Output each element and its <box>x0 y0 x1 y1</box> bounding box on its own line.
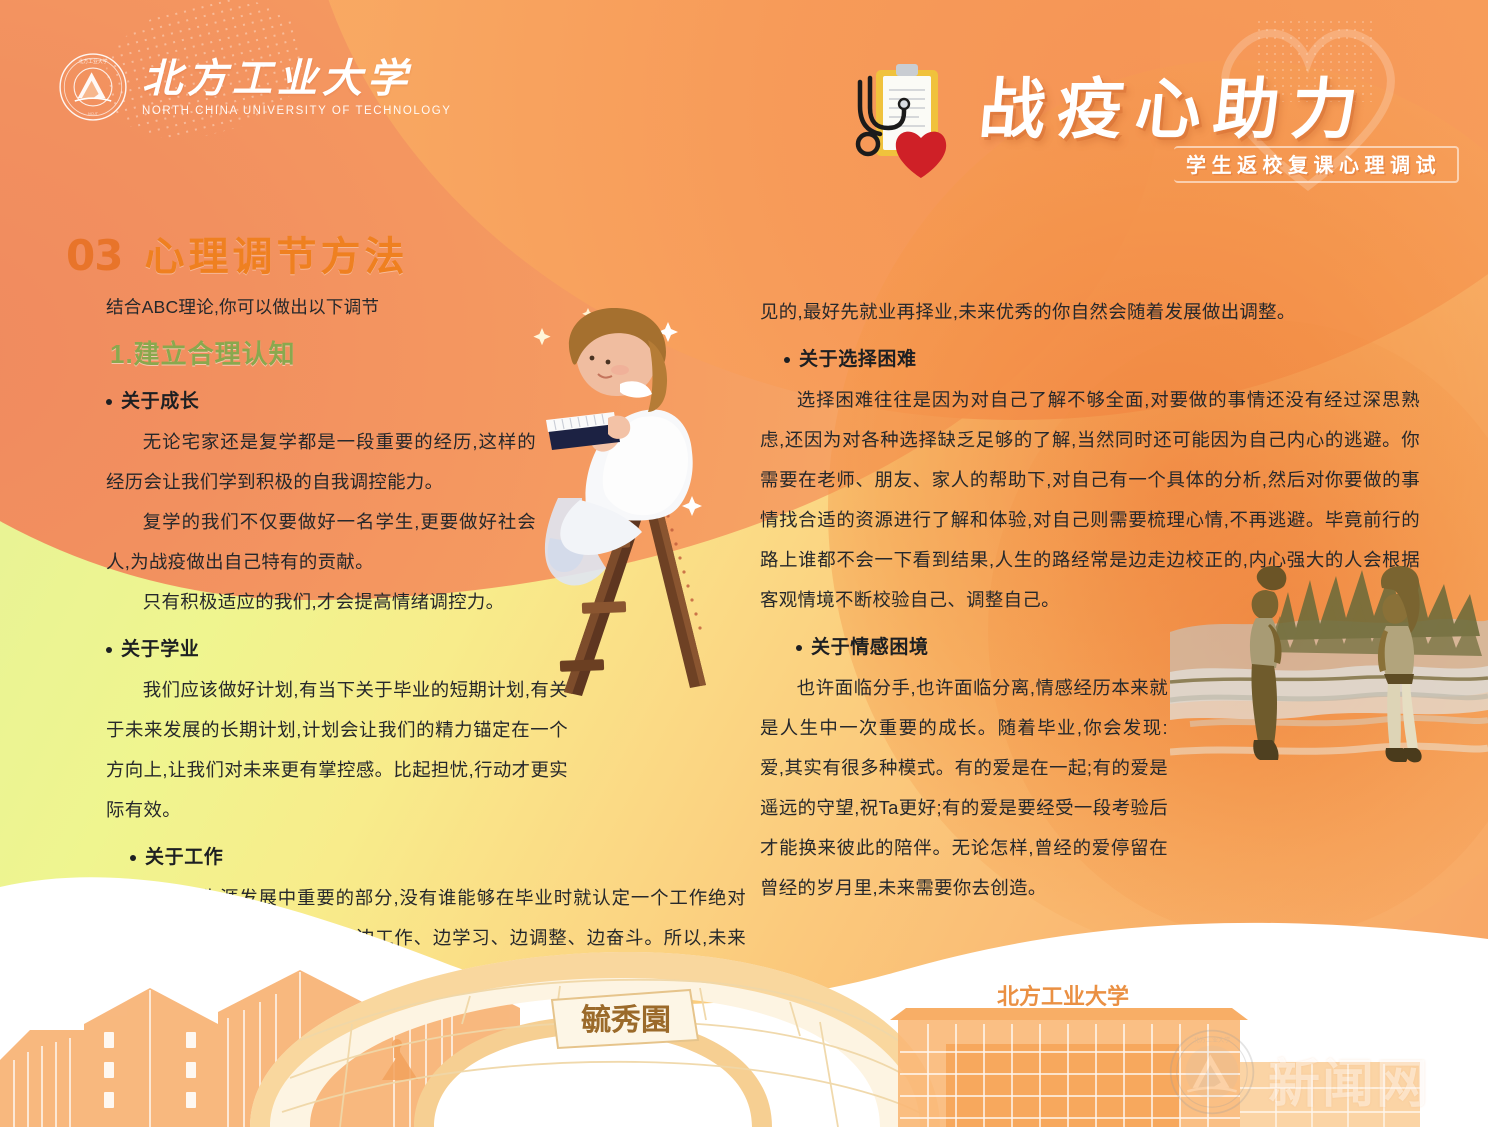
paragraph-growth-2: 复学的我们不仅要做好一名学生,更要做好社会人,为战疫做出自己特有的贡献。 <box>106 502 536 582</box>
watermark: 北方工业大学 新闻网 <box>1168 1020 1488 1124</box>
svg-text:NCUT: NCUT <box>88 112 99 116</box>
two-people-walking-apart-illustration <box>1170 532 1488 790</box>
building-inscription: 北方工业大学 <box>997 984 1129 1009</box>
svg-text:北方工业大学: 北方工业大学 <box>1194 1036 1231 1044</box>
arch-inscription: 毓秀園 <box>581 1004 671 1037</box>
person-reading-on-ladder-illustration <box>520 300 780 720</box>
university-seal-watermark-icon: 北方工业大学 <box>1168 1028 1256 1116</box>
section-title: 心理调节方法 <box>144 224 408 282</box>
bullet-label: 关于学业 <box>121 630 199 670</box>
bullet-dot-icon <box>796 645 802 651</box>
university-name-cn: 北方工业大学 <box>142 58 451 100</box>
bullet-label: 关于情感困境 <box>811 628 929 668</box>
university-name-en: NORTH CHINA UNIVERSITY OF TECHNOLOGY <box>142 105 451 117</box>
bullet-dot-icon <box>106 399 112 405</box>
bullet-decision-difficulty: 关于选择困难 <box>784 340 1428 380</box>
poster-title-main: 战疫心助力 <box>976 56 1374 152</box>
watermark-text: 新闻网 <box>1268 1042 1430 1117</box>
paragraph-growth-3: 只有积极适应的我们,才会提高情绪调控力。 <box>106 582 536 622</box>
poster-title-lockup: 战疫心助力 学生返校复课心理调试 <box>838 48 1438 188</box>
university-logo: 北方工业大学 NCUT 北方工业大学 NORTH CHINA UNIVERSIT… <box>58 52 451 122</box>
bullet-label: 关于成长 <box>121 382 199 422</box>
paragraph-growth-1: 无论宅家还是复学都是一段重要的经历,这样的经历会让我们学到积极的自我调控能力。 <box>106 422 536 502</box>
paragraph-continuation: 见的,最好先就业再择业,未来优秀的你自然会随着发展做出调整。 <box>760 292 1420 332</box>
section-heading: 03 心理调节方法 <box>66 224 408 282</box>
section-number: 03 <box>66 231 122 280</box>
svg-text:北方工业大学: 北方工业大学 <box>78 58 107 65</box>
university-seal-icon: 北方工业大学 NCUT <box>58 52 128 122</box>
bullet-dot-icon <box>106 647 112 653</box>
bullet-label: 关于选择困难 <box>799 340 917 380</box>
poster-title-subtitle: 学生返校复课心理调试 <box>1178 146 1449 182</box>
clipboard-stethoscope-heart-icon <box>846 58 966 190</box>
poster-canvas: 北方工业大学 NCUT 北方工业大学 NORTH CHINA UNIVERSIT… <box>0 0 1488 1127</box>
bullet-dot-icon <box>784 357 790 363</box>
